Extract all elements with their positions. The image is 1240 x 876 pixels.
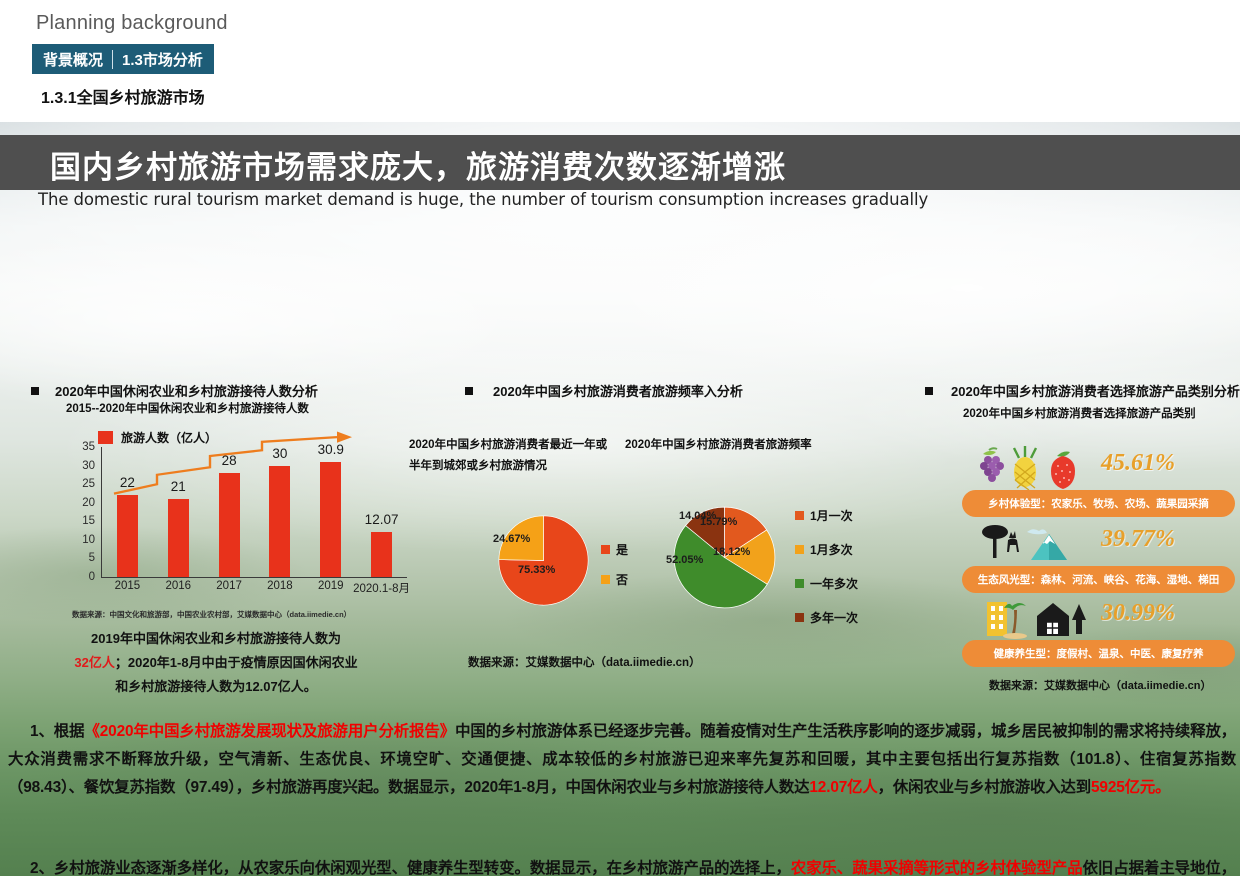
legend-label: 1月多次 bbox=[810, 541, 853, 558]
product-row-scenery: 39.77% bbox=[975, 522, 1220, 566]
product-percent: 30.99% bbox=[1101, 600, 1175, 627]
house-icon bbox=[1037, 603, 1069, 636]
pie2-legend: 1月一次1月多次一年多次多年一次 bbox=[795, 507, 858, 643]
panel2-heading: 2020年中国乡村旅游消费者旅游频率入分析 bbox=[465, 381, 743, 400]
product-pill-wellness: 健康养生型：度假村、温泉、中医、康复疗养 bbox=[962, 640, 1235, 667]
panel3-heading: 2020年中国乡村旅游消费者选择旅游产品类别分析 bbox=[925, 381, 1240, 400]
panel3-source: 数据来源：艾媒数据中心（data.iimedie.cn） bbox=[989, 677, 1211, 693]
planning-background-label: Planning background bbox=[36, 12, 228, 35]
legend-item[interactable]: 一年多次 bbox=[795, 575, 858, 592]
product-row-experience: 45.61% bbox=[975, 446, 1220, 490]
legend-swatch bbox=[601, 545, 610, 554]
panel1-heading: 2020年中国休闲农业和乡村旅游接待人数分析 bbox=[31, 381, 318, 400]
p1-report-title: 《2020年中国乡村旅游发展现状及旅游用户分析报告》 bbox=[84, 723, 455, 740]
square-bullet-icon bbox=[31, 387, 39, 395]
product-pill-label: 生态风光型：森林、河流、峡谷、花海、湿地、梯田 bbox=[978, 572, 1220, 587]
x-axis-tick: 2017 bbox=[216, 580, 242, 592]
y-axis-tick: 30 bbox=[73, 460, 95, 472]
legend-item[interactable]: 1月多次 bbox=[795, 541, 858, 558]
legend-swatch bbox=[795, 545, 804, 554]
pie-slice-label: 14.04% bbox=[679, 510, 716, 522]
paragraph-1: 1、根据《2020年中国乡村旅游发展现状及旅游用户分析报告》中国的乡村旅游体系已… bbox=[8, 718, 1236, 802]
pie2-caption: 2020年中国乡村旅游消费者旅游频率 bbox=[625, 435, 835, 456]
product-percent: 45.61% bbox=[1101, 450, 1175, 477]
pie-chart-visit-status bbox=[497, 514, 590, 607]
square-bullet-icon bbox=[465, 387, 473, 395]
panel2-heading-text: 2020年中国乡村旅游消费者旅游频率入分析 bbox=[493, 381, 743, 400]
x-axis-tick: 2019 bbox=[318, 580, 344, 592]
product-row-wellness: 30.99% bbox=[975, 596, 1220, 640]
p2-text-b: 依旧占据着主导地位， bbox=[1083, 860, 1236, 876]
y-axis-tick: 15 bbox=[73, 515, 95, 527]
y-axis-tick: 20 bbox=[73, 497, 95, 509]
panel1-source: 数据来源：中国文化和旅游部，中国农业农村部，艾媒数据中心（data.iimedi… bbox=[72, 609, 351, 620]
breadcrumb-divider bbox=[112, 50, 113, 69]
slide-subtitle: The domestic rural tourism market demand… bbox=[38, 190, 928, 209]
legend-label: 1月一次 bbox=[810, 507, 853, 524]
x-axis-tick: 2020.1-8月 bbox=[353, 580, 410, 596]
legend-swatch bbox=[795, 511, 804, 520]
trend-arrow-icon bbox=[102, 439, 407, 569]
p1-highlight-revenue: 5925亿元。 bbox=[1091, 779, 1170, 796]
p1-highlight-people: 12.07亿人 bbox=[809, 779, 877, 796]
panel3-subheading: 2020年中国乡村旅游消费者选择旅游产品类别 bbox=[963, 405, 1196, 421]
pie-slice-label: 52.05% bbox=[666, 554, 703, 566]
pie1-legend: 是否 bbox=[601, 541, 628, 601]
legend-item[interactable]: 多年一次 bbox=[795, 609, 858, 626]
breadcrumb: 背景概况 1.3市场分析 bbox=[32, 44, 214, 74]
product-pill-label: 乡村体验型：农家乐、牧场、农场、蔬果园采摘 bbox=[988, 496, 1209, 511]
bar-chart-x-axis-line bbox=[101, 577, 407, 578]
resort-icons bbox=[975, 596, 1093, 640]
p2-text-a: 2、乡村旅游业态逐渐多样化，从农家乐向休闲观光型、健康养生型转变。数据显示，在乡… bbox=[30, 860, 791, 876]
breadcrumb-item-market-analysis[interactable]: 1.3市场分析 bbox=[122, 49, 203, 70]
panel2-source: 数据来源：艾媒数据中心（data.iimedie.cn） bbox=[468, 654, 701, 670]
breadcrumb-item-background[interactable]: 背景概况 bbox=[43, 49, 103, 70]
hotel-building-icon bbox=[987, 602, 1007, 636]
p2-highlight-experience: 农家乐、蔬果采摘等形式的乡村体验型产品 bbox=[791, 860, 1083, 876]
deer-icon bbox=[1007, 531, 1019, 552]
fruit-icons bbox=[975, 446, 1093, 490]
legend-label: 一年多次 bbox=[810, 575, 858, 592]
strawberry-icon bbox=[1051, 452, 1075, 490]
panel1-note-line1: 2019年中国休闲农业和乡村旅游接待人数为 bbox=[91, 631, 341, 646]
panel1-note-red: 32亿人 bbox=[74, 655, 114, 670]
legend-swatch bbox=[795, 579, 804, 588]
legend-item[interactable]: 否 bbox=[601, 571, 628, 588]
panel3-heading-text: 2020年中国乡村旅游消费者选择旅游产品类别分析 bbox=[951, 381, 1240, 400]
legend-swatch bbox=[795, 613, 804, 622]
y-axis-tick: 0 bbox=[73, 571, 95, 583]
product-pill-label: 健康养生型：度假村、温泉、中医、康复疗养 bbox=[994, 646, 1204, 661]
page-header: Planning background 背景概况 1.3市场分析 1.3.1全国… bbox=[0, 0, 1240, 122]
pie-slice-label: 24.67% bbox=[493, 533, 530, 545]
square-bullet-icon bbox=[925, 387, 933, 395]
slide-title: 国内乡村旅游市场需求庞大，旅游消费次数逐渐增涨 bbox=[50, 142, 786, 187]
panel1-heading-text: 2020年中国休闲农业和乡村旅游接待人数分析 bbox=[55, 381, 318, 400]
page-title: 1.3.1全国乡村旅游市场 bbox=[41, 84, 205, 108]
bar-chart: 05101520253035 2220152120162820173020183… bbox=[33, 447, 423, 602]
x-axis-tick: 2015 bbox=[115, 580, 141, 592]
x-axis-tick: 2018 bbox=[267, 580, 293, 592]
legend-swatch bbox=[601, 575, 610, 584]
legend-item[interactable]: 是 bbox=[601, 541, 628, 558]
tree-icon bbox=[982, 525, 1008, 558]
legend-label: 多年一次 bbox=[810, 609, 858, 626]
bar-chart-y-axis-labels: 05101520253035 bbox=[73, 447, 95, 577]
nature-icons bbox=[975, 522, 1093, 566]
product-percent: 39.77% bbox=[1101, 526, 1175, 553]
pine-tree-icon bbox=[1072, 604, 1086, 634]
pie1-caption: 2020年中国乡村旅游消费者最近一年或半年到城郊或乡村旅游情况 bbox=[409, 435, 609, 477]
panel1-note-line3: 和乡村旅游接待人数为12.07亿人。 bbox=[115, 679, 317, 694]
product-pill-experience: 乡村体验型：农家乐、牧场、农场、蔬果园采摘 bbox=[962, 490, 1235, 517]
paragraph-2: 2、乡村旅游业态逐渐多样化，从农家乐向休闲观光型、健康养生型转变。数据显示，在乡… bbox=[8, 855, 1236, 876]
pie-slice-label: 75.33% bbox=[518, 564, 555, 576]
mountain-icon bbox=[1027, 529, 1067, 560]
panel1-subheading: 2015--2020年中国休闲农业和乡村旅游接待人数 bbox=[66, 400, 309, 416]
legend-label: 否 bbox=[616, 571, 628, 588]
pineapple-icon bbox=[1014, 446, 1036, 490]
p1-text-b: ，休闲农业与乡村旅游收入达到 bbox=[878, 779, 1091, 796]
y-axis-tick: 35 bbox=[73, 441, 95, 453]
y-axis-tick: 10 bbox=[73, 534, 95, 546]
panel1-note-line2: ；2020年1-8月中由于疫情原因国休闲农业 bbox=[115, 655, 358, 670]
slide-canvas: 国内乡村旅游市场需求庞大，旅游消费次数逐渐增涨 The domestic rur… bbox=[0, 122, 1240, 876]
x-axis-tick: 2016 bbox=[165, 580, 191, 592]
legend-item[interactable]: 1月一次 bbox=[795, 507, 858, 524]
y-axis-tick: 25 bbox=[73, 478, 95, 490]
panel1-note: 2019年中国休闲农业和乡村旅游接待人数为 32亿人；2020年1-8月中由于疫… bbox=[46, 627, 386, 699]
grapes-icon bbox=[980, 448, 1004, 482]
p1-number: 1、根据 bbox=[30, 723, 84, 740]
y-axis-tick: 5 bbox=[73, 552, 95, 564]
product-pill-scenery: 生态风光型：森林、河流、峡谷、花海、湿地、梯田 bbox=[962, 566, 1235, 593]
legend-label: 是 bbox=[616, 541, 628, 558]
pie-slice-label: 18.12% bbox=[713, 546, 750, 558]
